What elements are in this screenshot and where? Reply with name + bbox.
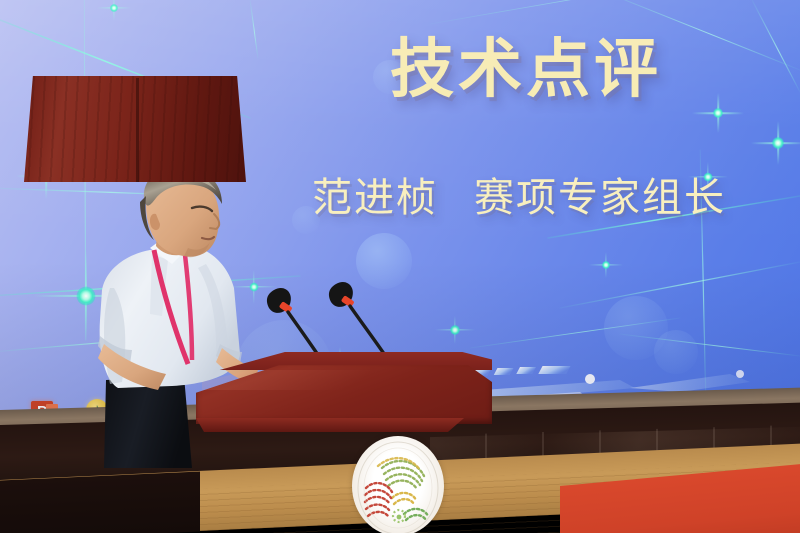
podium <box>196 352 506 533</box>
podium-shelf <box>196 418 464 432</box>
speaker-name: 范进桢 <box>312 176 438 220</box>
slide-title: 技术点评 <box>390 36 662 103</box>
podium-wood-grain <box>24 76 246 182</box>
speaker-role: 赛项专家组长 <box>474 176 726 220</box>
scene-root: 技术点评 范进桢赛项专家组长 <box>0 0 800 533</box>
podium-body-edge <box>136 78 139 182</box>
floor-shadow-left <box>0 471 200 533</box>
podium-highlight <box>202 370 402 390</box>
event-emblem <box>352 436 444 533</box>
speaker-trousers <box>104 376 192 468</box>
slide-subtitle: 范进桢赛项专家组长 <box>312 176 726 220</box>
